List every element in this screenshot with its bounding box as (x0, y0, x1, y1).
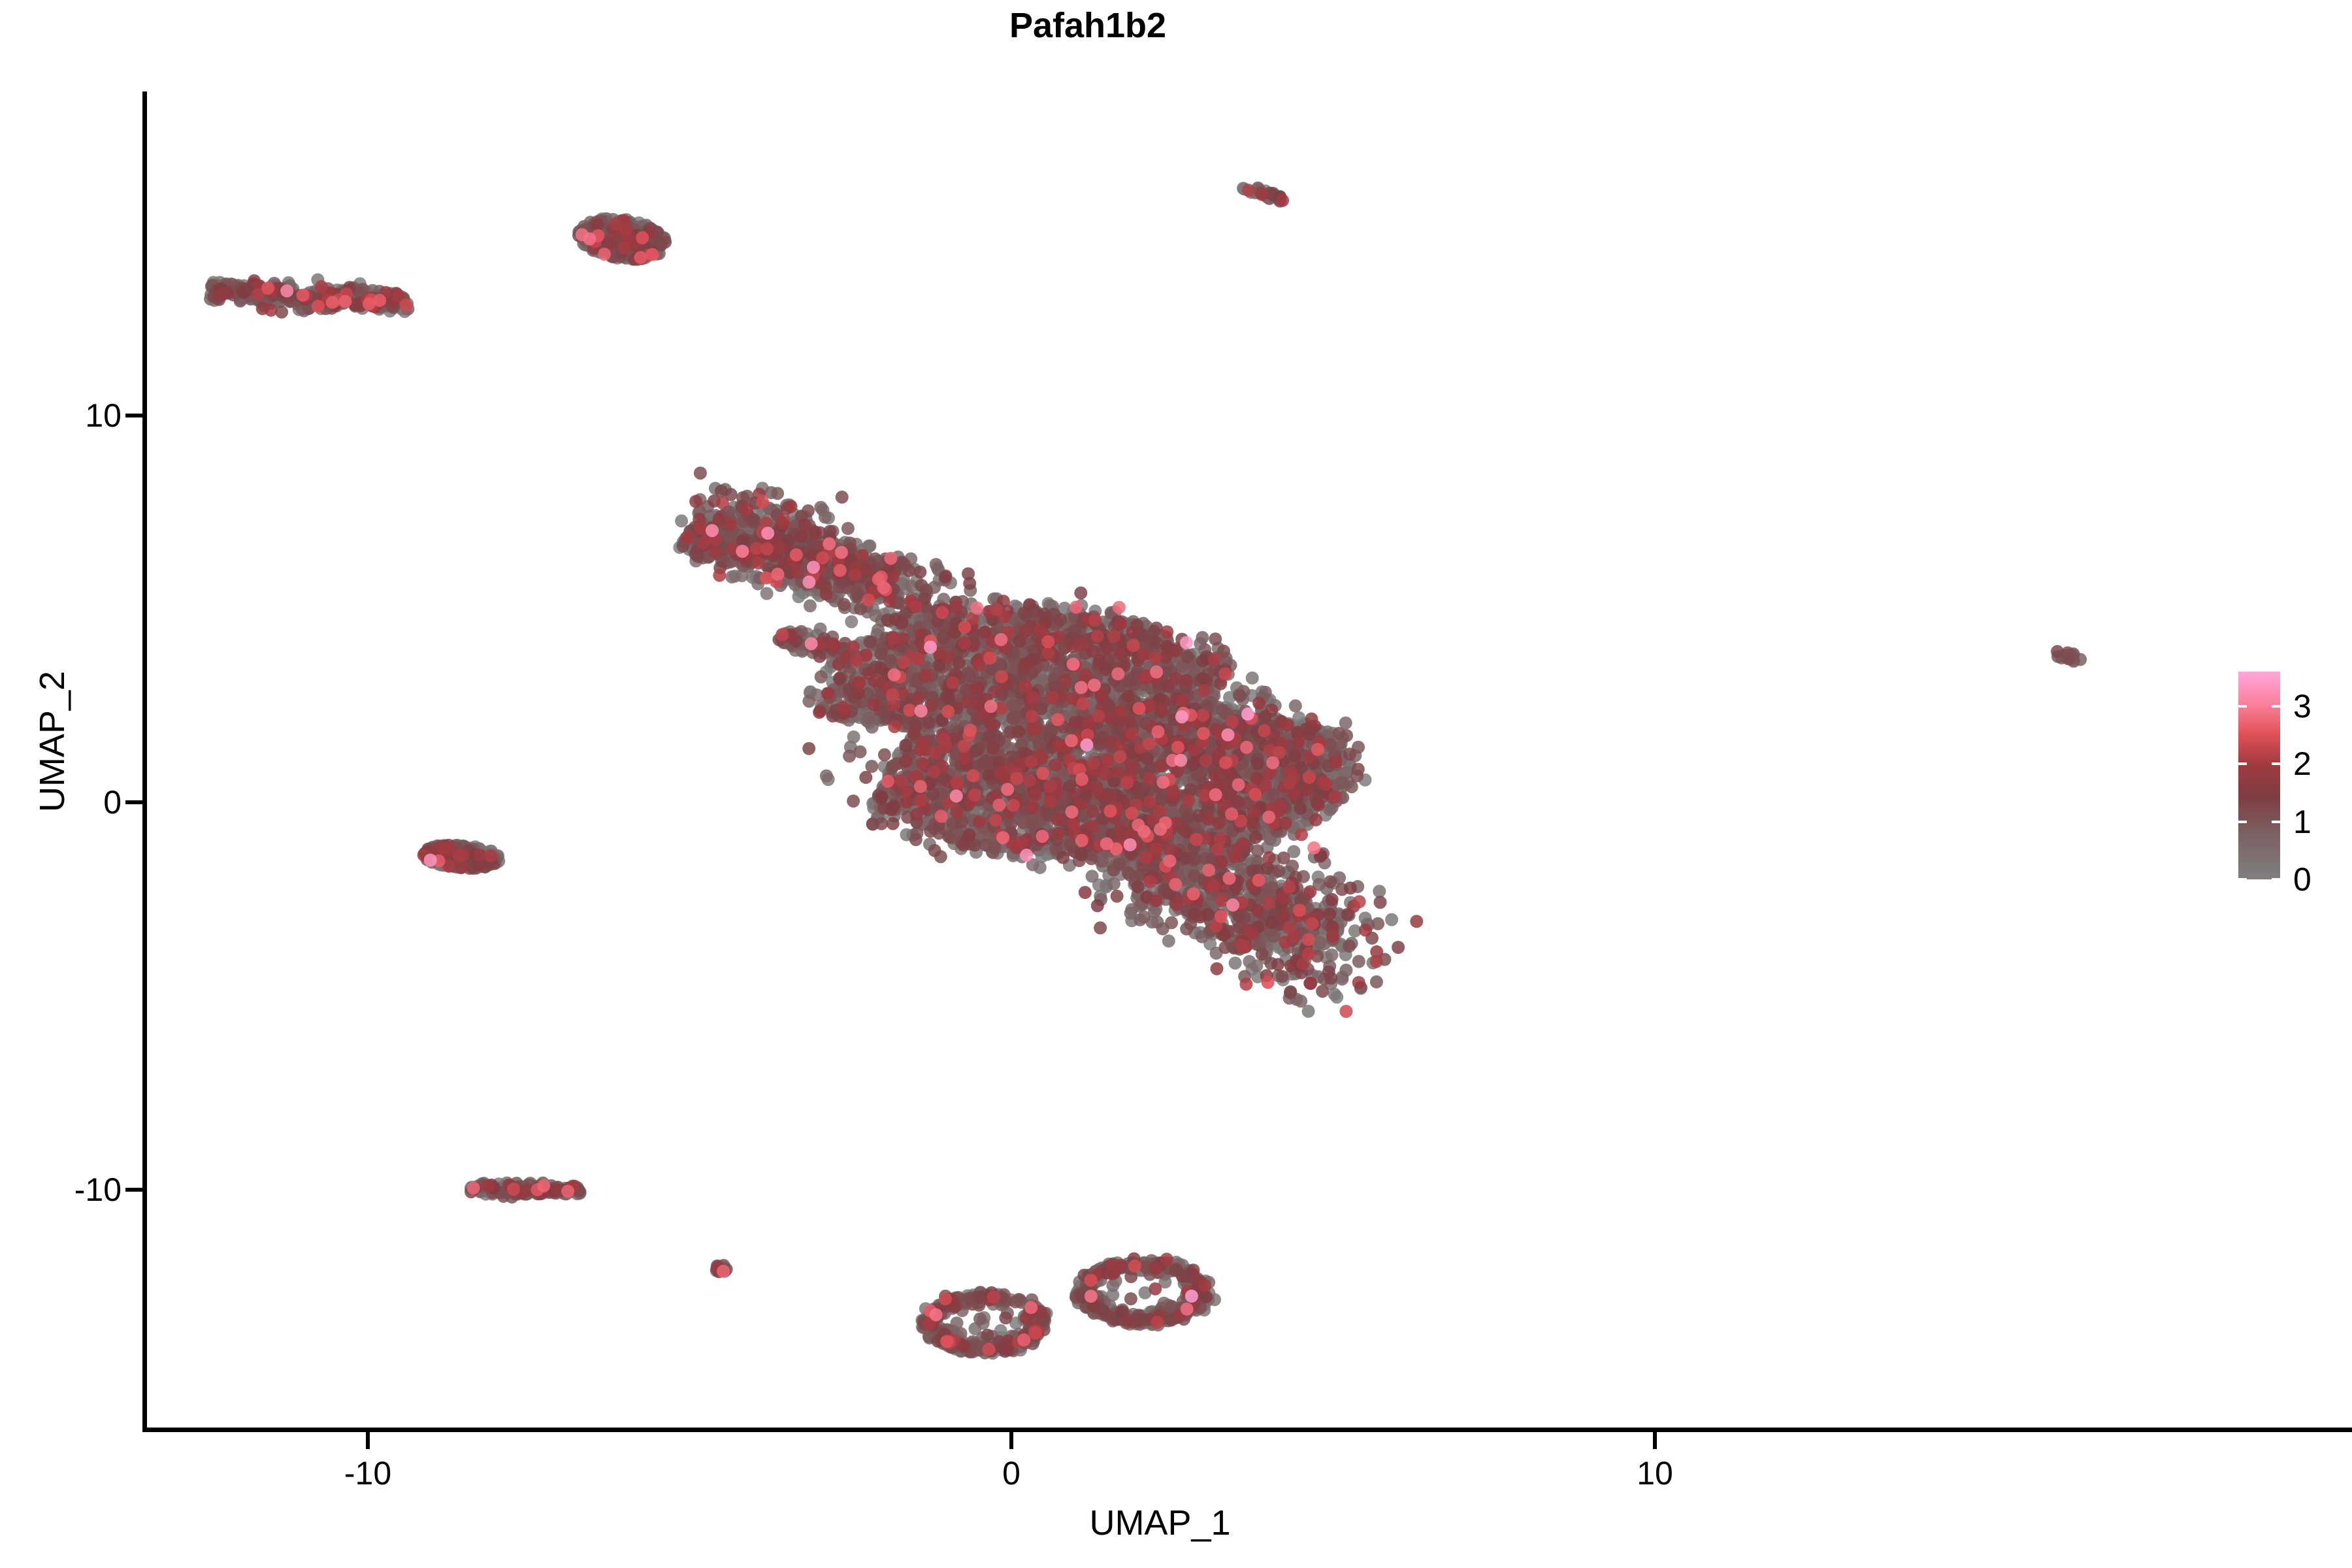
scatter-point (1326, 949, 1339, 962)
scatter-point (845, 615, 858, 629)
scatter-point (725, 570, 738, 583)
scatter-point (1107, 877, 1120, 890)
scatter-point (820, 770, 833, 783)
scatter-point (802, 694, 815, 708)
scatter-point (1385, 913, 1398, 926)
scatter-point (760, 587, 774, 600)
scatter-point (1106, 1279, 1119, 1292)
scatter-point (814, 501, 827, 514)
scatter-point (804, 599, 817, 612)
page-title: Pafah1b2 (0, 5, 2176, 46)
scatter-point (1246, 672, 1259, 685)
scatter-point (1289, 699, 1302, 712)
umap-feature-plot: Pafah1b2 -10010 100-10 UMAP_1 UMAP_2 321… (0, 0, 2352, 1568)
scatter-point (1229, 956, 1242, 970)
scatter-point (1162, 934, 1175, 947)
scatter-point (1243, 955, 1256, 968)
plot-panel (144, 91, 2176, 1429)
scatter-points-layer (144, 91, 2176, 1429)
scatter-point (675, 514, 688, 527)
scatter-point (1086, 870, 1099, 883)
